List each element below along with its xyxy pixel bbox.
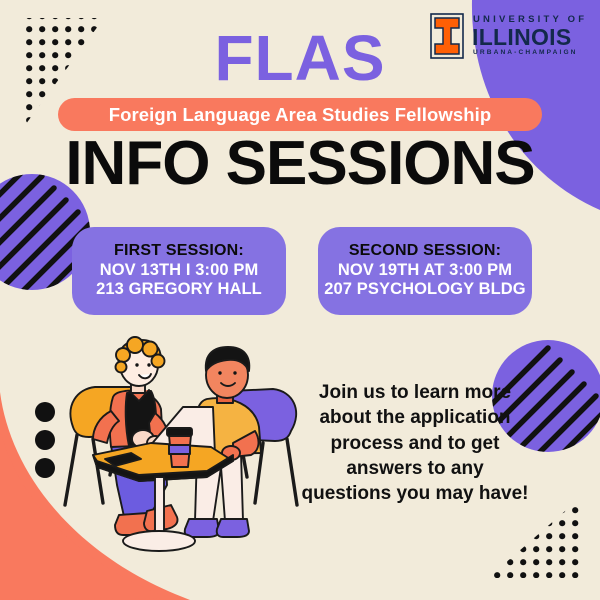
- coffee-cup: [167, 428, 192, 467]
- three-dots-icon: [35, 402, 55, 478]
- subtitle-pill: Foreign Language Area Studies Fellowship: [58, 98, 542, 131]
- two-people-at-table-illustration: [55, 335, 320, 565]
- session-location: 213 GREGORY HALL: [96, 280, 262, 299]
- session-location: 207 PSYCHOLOGY BLDG: [324, 280, 525, 299]
- body-copy: Join us to learn more about the applicat…: [300, 380, 530, 506]
- session-card-second: SECOND SESSION: NOV 19TH AT 3:00 PM 207 …: [318, 227, 532, 315]
- session-heading: SECOND SESSION:: [349, 242, 501, 261]
- page-title-acronym: FLAS: [0, 26, 600, 90]
- session-heading: FIRST SESSION:: [114, 242, 244, 261]
- poster-canvas: UNIVERSITY OF ILLINOIS URBANA-CHAMPAIGN …: [0, 0, 600, 600]
- session-card-first: FIRST SESSION: NOV 13TH I 3:00 PM 213 GR…: [72, 227, 286, 315]
- subtitle-text: Foreign Language Area Studies Fellowship: [109, 104, 492, 126]
- session-datetime: NOV 13TH I 3:00 PM: [100, 261, 259, 280]
- session-datetime: NOV 19TH AT 3:00 PM: [338, 261, 512, 280]
- page-title: INFO SESSIONS: [0, 131, 600, 196]
